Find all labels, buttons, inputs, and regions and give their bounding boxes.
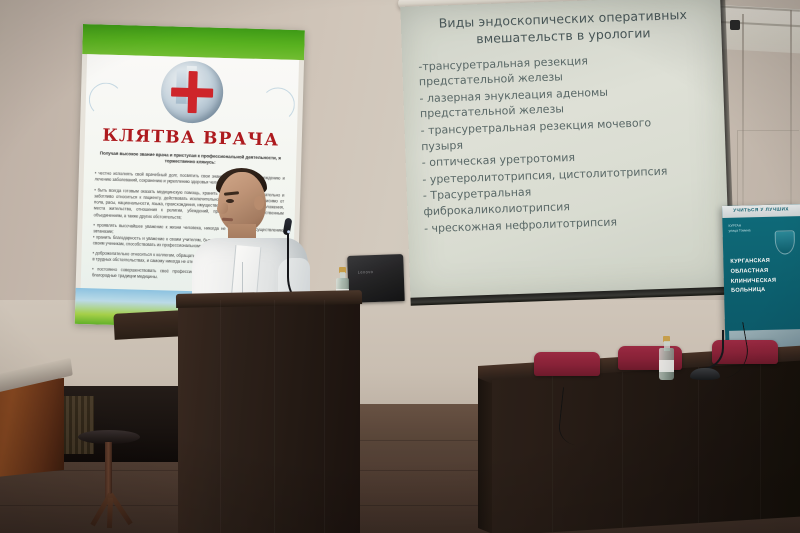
round-stool[interactable] xyxy=(78,430,140,530)
slide-title: Виды эндоскопических оперативных вмешате… xyxy=(417,5,710,50)
presentation-slide: Виды эндоскопических оперативных вмешате… xyxy=(400,0,730,301)
bottle-label xyxy=(659,360,674,372)
table-grain xyxy=(698,367,699,523)
banner-subtext: КУРГАН улица Томина xyxy=(728,223,768,235)
presidium-chair[interactable] xyxy=(534,352,600,376)
table-grain xyxy=(622,372,623,528)
presenter-eye xyxy=(226,199,234,203)
hospital-crest-icon xyxy=(775,230,796,254)
podium-shelf xyxy=(113,310,184,340)
banner-title-line2: КЛИНИЧЕСКАЯ БОЛЬНИЦА xyxy=(731,276,800,297)
stool-leg xyxy=(107,498,113,528)
lectern-grain xyxy=(324,300,325,533)
table-grain xyxy=(552,376,553,532)
presidium-table xyxy=(478,366,800,533)
red-cross-icon xyxy=(171,87,213,97)
lectern-top xyxy=(176,290,362,308)
projection-screen: Виды эндоскопических оперативных вмешате… xyxy=(398,0,739,314)
table-grain xyxy=(760,363,761,519)
presenter-ear xyxy=(254,196,264,210)
banner-title-line1: КУРГАНСКАЯ ОБЛАСТНАЯ xyxy=(730,256,800,277)
presenter-nose xyxy=(217,203,228,214)
lectern-grain xyxy=(220,300,221,533)
lectern-grain xyxy=(274,300,275,533)
water-bottle[interactable] xyxy=(659,336,674,380)
lectern[interactable] xyxy=(178,300,360,533)
slide-bullet-list: -трансуретральная резекция предстательно… xyxy=(418,49,716,237)
wooden-furniture xyxy=(0,378,64,478)
table-front-panel xyxy=(492,360,800,533)
lecture-hall-photo: КЛЯТВА ВРАЧА Получая высокое звание врач… xyxy=(0,0,800,533)
banner-title: КУРГАНСКАЯ ОБЛАСТНАЯ КЛИНИЧЕСКАЯ БОЛЬНИЦ… xyxy=(730,256,800,297)
microphone-led-icon xyxy=(287,230,290,233)
screen-surface: Виды эндоскопических оперативных вмешате… xyxy=(400,0,730,301)
microphone-base xyxy=(690,368,720,380)
wall-sensor-icon xyxy=(730,20,740,30)
laptop-brand-label: Lenovo xyxy=(358,269,374,275)
